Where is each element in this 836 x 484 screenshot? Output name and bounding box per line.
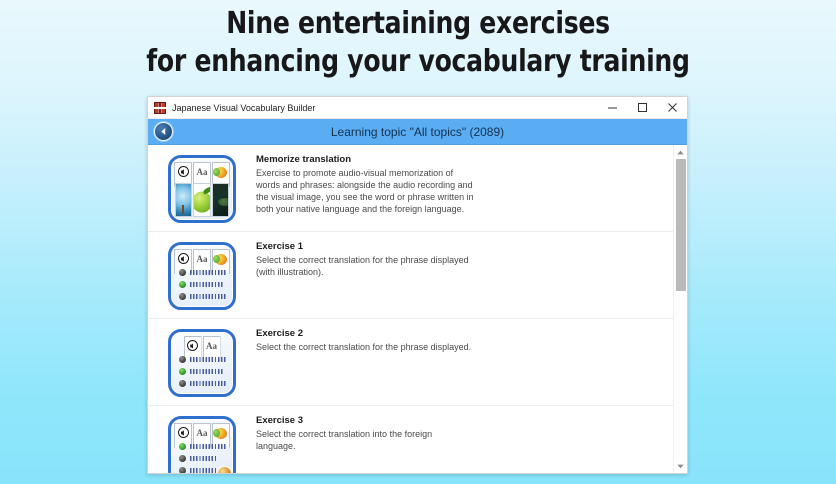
close-icon[interactable] bbox=[657, 97, 687, 118]
exercise-icon-wrap: Aa bbox=[148, 327, 256, 397]
exercise-icon-wrap: Aa bbox=[148, 414, 256, 473]
scroll-down-icon[interactable] bbox=[674, 459, 688, 473]
window-titlebar[interactable]: Japanese Visual Vocabulary Builder bbox=[148, 97, 687, 119]
vertical-scrollbar[interactable] bbox=[673, 145, 687, 473]
exercise-text: Exercise 2 Select the correct translatio… bbox=[256, 327, 475, 353]
text-squiggle bbox=[190, 357, 226, 362]
exercise-title: Exercise 3 bbox=[256, 415, 474, 426]
text-squiggle bbox=[190, 369, 223, 374]
radio-bullet-icon bbox=[179, 455, 186, 462]
exercise-description: Select the correct translation for the p… bbox=[256, 341, 471, 353]
answer-option bbox=[179, 380, 226, 387]
exercise-title: Exercise 1 bbox=[256, 241, 474, 252]
minimize-icon[interactable] bbox=[597, 97, 627, 118]
exercise-list[interactable]: Aa Memorize bbox=[148, 145, 673, 473]
radio-bullet-icon bbox=[179, 293, 186, 300]
text-squiggle bbox=[190, 282, 223, 287]
answer-option bbox=[179, 281, 226, 288]
topic-title: Learning topic "All topics" (2089) bbox=[148, 125, 687, 139]
text-squiggle bbox=[190, 270, 226, 275]
exercise-title: Exercise 2 bbox=[256, 328, 471, 339]
dark-photo-icon bbox=[212, 183, 229, 217]
list-item[interactable]: Aa Memorize bbox=[148, 145, 673, 232]
list-item[interactable]: Aa Exercise bbox=[148, 232, 673, 319]
radio-bullet-selected-icon bbox=[179, 281, 186, 288]
app-grid-icon bbox=[154, 102, 166, 114]
text-squiggle bbox=[190, 381, 226, 386]
list-item[interactable]: Aa bbox=[148, 406, 673, 473]
exercise-icon-wrap: Aa bbox=[148, 153, 256, 223]
exercise-2-icon: Aa bbox=[168, 329, 236, 397]
memorize-translation-icon: Aa bbox=[168, 155, 236, 223]
scroll-up-icon[interactable] bbox=[674, 145, 688, 159]
window-body: Aa Memorize bbox=[148, 145, 687, 473]
application-window: Japanese Visual Vocabulary Builder Learn… bbox=[147, 96, 688, 474]
exercise-text: Exercise 1 Select the correct translatio… bbox=[256, 240, 478, 278]
text-squiggle bbox=[190, 444, 226, 449]
radio-bullet-icon bbox=[179, 356, 186, 363]
text-squiggle bbox=[190, 456, 216, 461]
promo-headline: Nine entertaining exercises for enhancin… bbox=[0, 6, 836, 80]
scrollbar-thumb[interactable] bbox=[676, 159, 686, 291]
answer-option bbox=[179, 269, 226, 276]
illustration-thumbnail-icon bbox=[217, 466, 232, 473]
answer-option bbox=[179, 443, 226, 450]
answer-option bbox=[179, 293, 226, 300]
exercise-description: Select the correct translation into the … bbox=[256, 428, 474, 452]
answer-option bbox=[179, 455, 226, 462]
radio-bullet-selected-icon bbox=[179, 368, 186, 375]
list-item[interactable]: Aa Exercise 2 Sele bbox=[148, 319, 673, 406]
headline-line-2: for enhancing your vocabulary training bbox=[29, 44, 806, 79]
answer-option bbox=[179, 368, 226, 375]
globe-photo-icon bbox=[175, 183, 192, 217]
headline-line-1: Nine entertaining exercises bbox=[29, 6, 806, 41]
topic-header-bar: Learning topic "All topics" (2089) bbox=[148, 119, 687, 145]
back-arrow-icon[interactable] bbox=[154, 122, 173, 141]
radio-bullet-icon bbox=[179, 467, 186, 473]
exercise-text: Exercise 3 Select the correct translatio… bbox=[256, 414, 478, 452]
text-squiggle bbox=[190, 468, 216, 473]
window-controls bbox=[597, 97, 687, 118]
answer-option bbox=[179, 356, 226, 363]
exercise-text: Memorize translation Exercise to promote… bbox=[256, 153, 478, 215]
radio-bullet-icon bbox=[179, 380, 186, 387]
exercise-description: Select the correct translation for the p… bbox=[256, 254, 474, 278]
exercise-icon-wrap: Aa bbox=[148, 240, 256, 310]
window-title: Japanese Visual Vocabulary Builder bbox=[172, 103, 315, 113]
radio-bullet-icon bbox=[179, 269, 186, 276]
exercise-1-icon: Aa bbox=[168, 242, 236, 310]
apple-photo-icon bbox=[193, 183, 210, 217]
exercise-title: Memorize translation bbox=[256, 154, 474, 165]
exercise-3-icon: Aa bbox=[168, 416, 236, 473]
radio-bullet-selected-icon bbox=[179, 443, 186, 450]
maximize-icon[interactable] bbox=[627, 97, 657, 118]
exercise-description: Exercise to promote audio-visual memoriz… bbox=[256, 167, 474, 215]
text-squiggle bbox=[190, 294, 226, 299]
scrollbar-track[interactable] bbox=[674, 159, 688, 459]
